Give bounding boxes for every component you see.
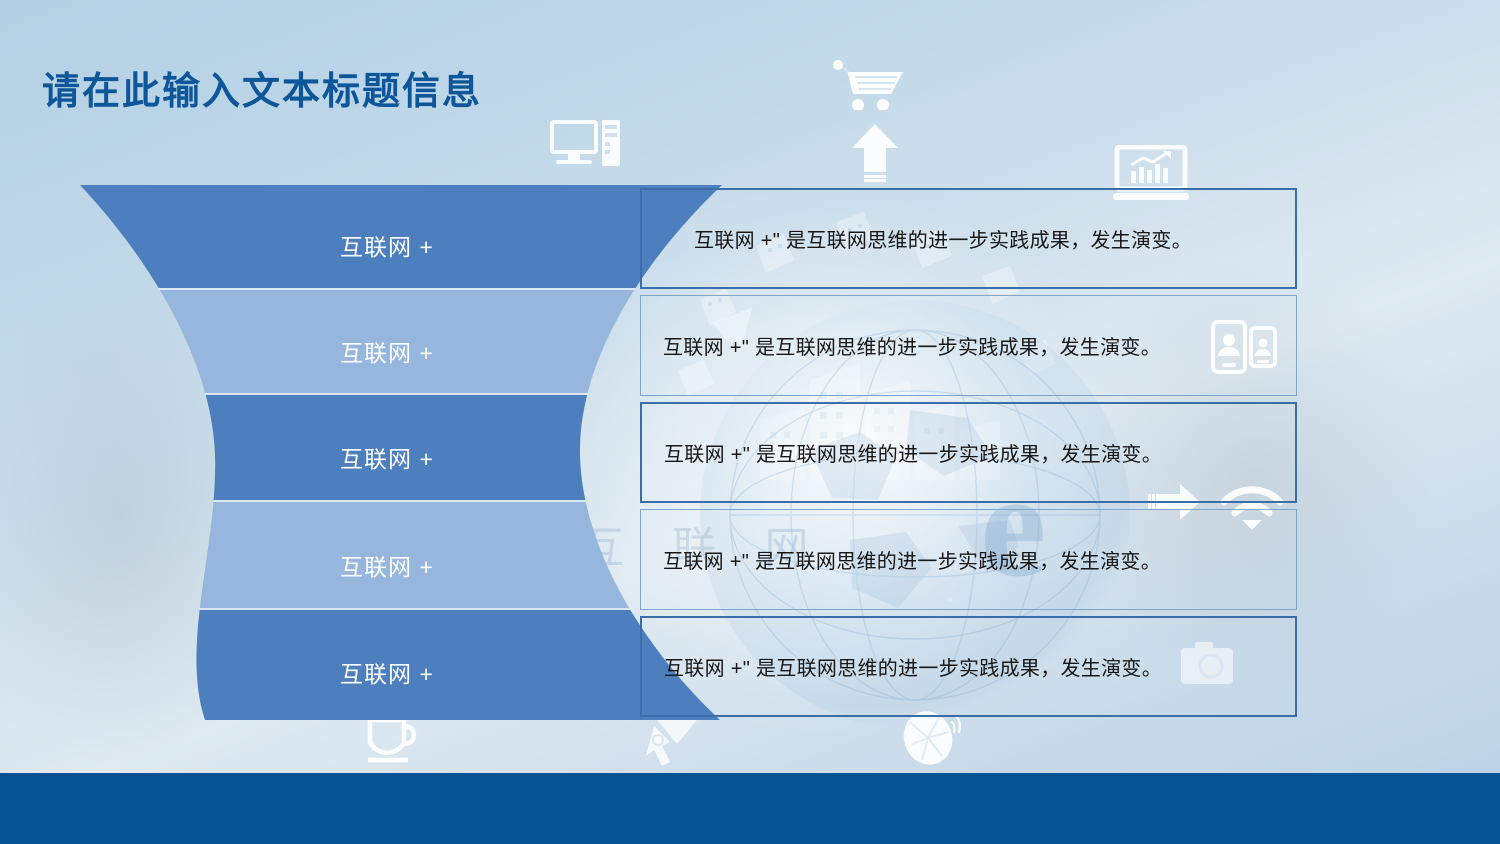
content-box-5[interactable]: 互联网 +" 是互联网思维的进一步实践成果，发生演变。: [640, 616, 1297, 717]
content-text-2: 互联网 +" 是互联网思维的进一步实践成果，发生演变。: [641, 331, 1161, 360]
funnel-label-2: 互联网 +: [340, 334, 434, 368]
funnel-label-5: 互联网 +: [340, 655, 434, 689]
content-box-4[interactable]: 互联网 +" 是互联网思维的进一步实践成果，发生演变。: [640, 509, 1297, 610]
bottom-bar: [0, 773, 1500, 844]
content-box-1[interactable]: 互联网 +" 是互联网思维的进一步实践成果，发生演变。: [640, 188, 1297, 289]
content-box-2[interactable]: 互联网 +" 是互联网思维的进一步实践成果，发生演变。: [640, 295, 1297, 396]
content-text-1: 互联网 +" 是互联网思维的进一步实践成果，发生演变。: [642, 224, 1192, 253]
up-arrow-icon: [850, 122, 900, 182]
mouse-hand-icon: [638, 722, 694, 778]
shopping-cart-icon: [833, 60, 913, 110]
funnel-label-1: 互联网 +: [340, 228, 434, 262]
coffee-cup-icon: [364, 714, 426, 766]
desktop-computer-icon: [550, 118, 630, 168]
content-text-4: 互联网 +" 是互联网思维的进一步实践成果，发生演变。: [641, 545, 1161, 574]
funnel-label-3: 互联网 +: [340, 440, 434, 474]
content-box-3[interactable]: 互联网 +" 是互联网思维的进一步实践成果，发生演变。: [640, 402, 1297, 503]
page-title: 请在此输入文本标题信息: [42, 60, 482, 115]
funnel-label-4: 互联网 +: [340, 548, 434, 582]
slide-canvas: e 互 联 网: [0, 0, 1500, 844]
content-text-5: 互联网 +" 是互联网思维的进一步实践成果，发生演变。: [642, 652, 1162, 681]
content-text-3: 互联网 +" 是互联网思维的进一步实践成果，发生演变。: [642, 438, 1162, 467]
